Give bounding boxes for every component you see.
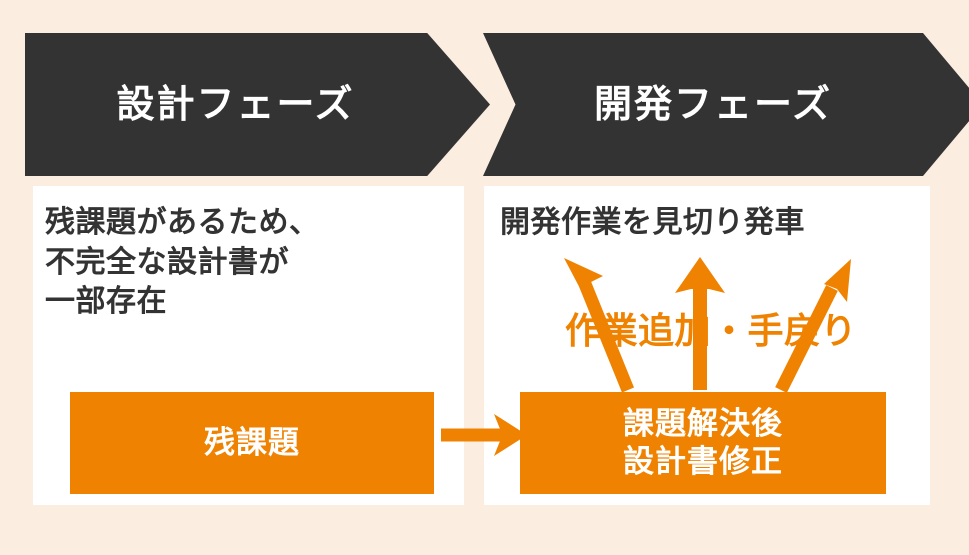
issue-resolution-design-fix-box: 課題解決後 設計書修正 [520, 392, 886, 494]
development-phase-description: 開発作業を見切り発車 [500, 203, 805, 243]
rework-caption: 作業追加・手戻り [546, 313, 876, 349]
phase-header-development-label: 開発フェーズ [594, 86, 832, 124]
phase-header-design: 設計フェーズ [25, 33, 490, 176]
phase-header-development: 開発フェーズ [483, 33, 969, 176]
residual-issues-box: 残課題 [70, 392, 434, 494]
phase-flow-diagram: 設計フェーズ 開発フェーズ 残課題があるため、 不完全な設計書が 一部存在 残課… [0, 0, 969, 555]
residual-issues-label: 残課題 [204, 424, 300, 462]
phase-header-design-label: 設計フェーズ [116, 86, 354, 124]
issue-resolution-design-fix-label: 課題解決後 設計書修正 [623, 405, 783, 482]
design-phase-description: 残課題があるため、 不完全な設計書が 一部存在 [45, 203, 320, 322]
phase-card-design: 残課題があるため、 不完全な設計書が 一部存在 残課題 [33, 186, 464, 505]
